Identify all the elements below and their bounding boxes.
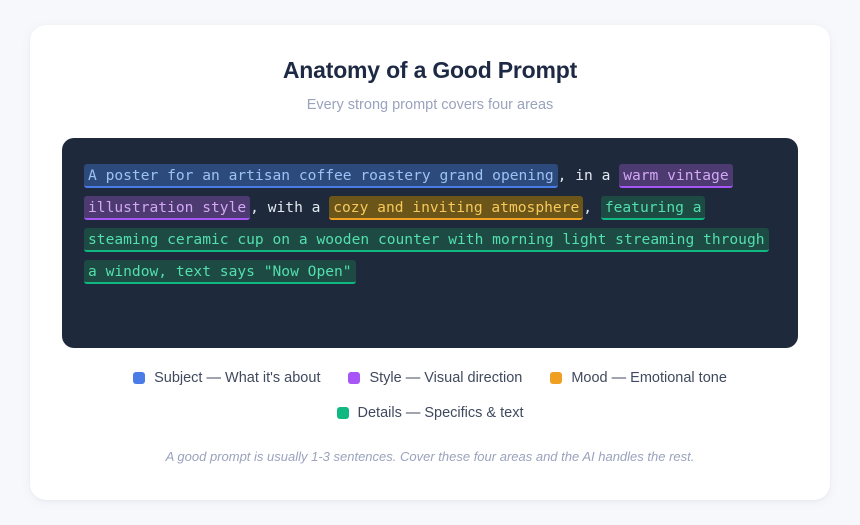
legend-label-details: Details — Specifics & text (358, 405, 524, 421)
page-root: Anatomy of a Good Prompt Every strong pr… (0, 0, 860, 525)
legend-item-subject: Subject — What it's about (133, 370, 320, 386)
legend-item-style: Style — Visual direction (348, 370, 522, 386)
prompt-anatomy-card: Anatomy of a Good Prompt Every strong pr… (30, 25, 830, 500)
page-title: Anatomy of a Good Prompt (30, 25, 830, 84)
legend-swatch-style-icon (348, 372, 360, 384)
legend-swatch-mood-icon (550, 372, 562, 384)
legend-label-mood: Mood — Emotional tone (571, 370, 727, 386)
page-subtitle: Every strong prompt covers four areas (30, 84, 830, 113)
legend-row-secondary: Details — Specifics & text (30, 405, 830, 421)
prompt-plain-text: , (583, 199, 601, 216)
legend-row-primary: Subject — What it's aboutStyle — Visual … (30, 370, 830, 386)
prompt-text: A poster for an artisan coffee roastery … (84, 160, 776, 288)
prompt-highlight-mood: cozy and inviting atmosphere (329, 196, 583, 220)
legend-label-style: Style — Visual direction (369, 370, 522, 386)
prompt-plain-text: , in a (558, 167, 620, 184)
legend-label-subject: Subject — What it's about (154, 370, 320, 386)
legend-swatch-subject-icon (133, 372, 145, 384)
prompt-highlight-subject: A poster for an artisan coffee roastery … (84, 164, 558, 188)
prompt-plain-text: , with a (250, 199, 329, 216)
footer-note: A good prompt is usually 1-3 sentences. … (30, 449, 830, 464)
legend-swatch-details-icon (337, 407, 349, 419)
prompt-example-block: A poster for an artisan coffee roastery … (62, 138, 798, 348)
legend: Subject — What it's aboutStyle — Visual … (30, 370, 830, 421)
legend-item-details: Details — Specifics & text (337, 405, 524, 421)
legend-item-mood: Mood — Emotional tone (550, 370, 727, 386)
